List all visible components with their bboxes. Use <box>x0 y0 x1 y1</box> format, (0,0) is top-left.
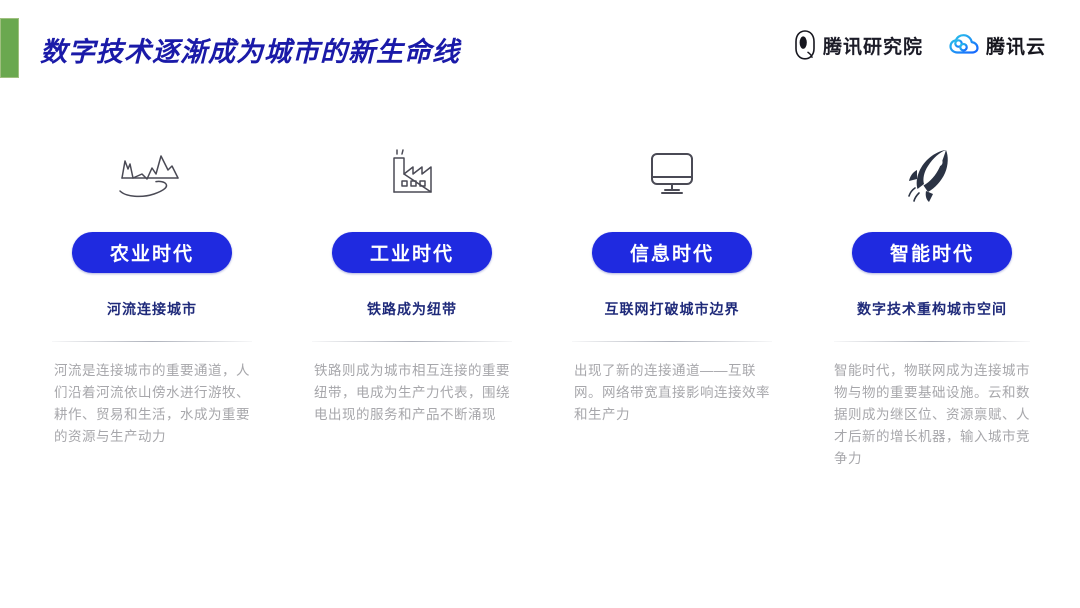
era-subtitle-industry: 铁路成为纽带 <box>367 299 457 319</box>
era-columns: 农业时代 河流连接城市 河流是连接城市的重要通道，人们沿着河流依山傍水进行游牧、… <box>36 138 1048 470</box>
rocket-icon <box>905 138 959 210</box>
era-subtitle-information: 互联网打破城市边界 <box>605 299 740 319</box>
era-column-agriculture: 农业时代 河流连接城市 河流是连接城市的重要通道，人们沿着河流依山傍水进行游牧、… <box>36 138 268 470</box>
slide-header: 数字技术逐渐成为城市的新生命线 腾讯研究院 <box>0 0 1080 96</box>
era-column-industry: 工业时代 铁路成为纽带 铁路则成为城市相互连接的重要纽带，电成为生产力代表，围绕… <box>296 138 528 470</box>
monitor-icon <box>643 138 701 210</box>
tencent-cloud-icon <box>949 33 979 57</box>
column-divider <box>52 341 252 342</box>
era-subtitle-agriculture: 河流连接城市 <box>107 299 197 319</box>
era-body-industry: 铁路则成为城市相互连接的重要纽带，电成为生产力代表，围绕电出现的服务和产品不断涌… <box>314 360 510 426</box>
tencent-cloud-label: 腾讯云 <box>986 32 1046 59</box>
era-badge-agriculture[interactable]: 农业时代 <box>72 232 232 273</box>
tencent-cloud-logo: 腾讯云 <box>949 32 1046 59</box>
column-divider <box>572 341 772 342</box>
era-body-intelligence: 智能时代，物联网成为连接城市物与物的重要基础设施。云和数据则成为继区位、资源禀赋… <box>834 360 1030 470</box>
era-body-agriculture: 河流是连接城市的重要通道，人们沿着河流依山傍水进行游牧、耕作、贸易和生活，水成为… <box>54 360 250 448</box>
factory-icon <box>380 138 444 210</box>
column-divider <box>834 341 1030 342</box>
logo-row: 腾讯研究院 腾讯云 <box>794 30 1046 60</box>
era-badge-intelligence[interactable]: 智能时代 <box>852 232 1012 273</box>
green-accent-bar <box>0 18 19 78</box>
era-badge-information[interactable]: 信息时代 <box>592 232 752 273</box>
era-column-information: 信息时代 互联网打破城市边界 出现了新的连接通道——互联网。网络带宽直接影响连接… <box>556 138 788 470</box>
era-subtitle-intelligence: 数字技术重构城市空间 <box>857 299 1007 319</box>
page-title: 数字技术逐渐成为城市的新生命线 <box>40 30 460 69</box>
tencent-penguin-icon <box>794 30 816 60</box>
tencent-research-logo: 腾讯研究院 <box>794 30 923 60</box>
mountain-river-icon <box>116 138 188 210</box>
tencent-research-label: 腾讯研究院 <box>823 32 923 59</box>
era-column-intelligence: 智能时代 数字技术重构城市空间 智能时代，物联网成为连接城市物与物的重要基础设施… <box>816 138 1048 470</box>
era-body-information: 出现了新的连接通道——互联网。网络带宽直接影响连接效率和生产力 <box>574 360 770 426</box>
column-divider <box>312 341 512 342</box>
era-badge-industry[interactable]: 工业时代 <box>332 232 492 273</box>
